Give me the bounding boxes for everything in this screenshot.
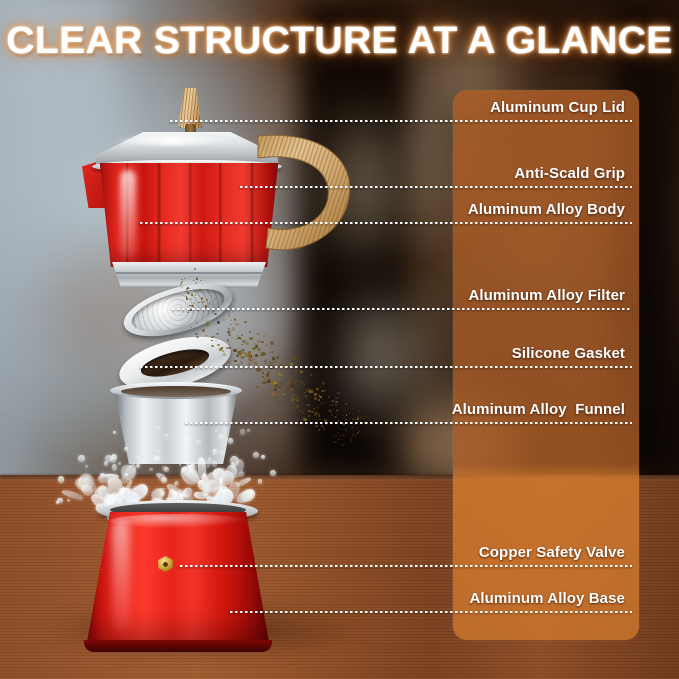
callout-label: Aluminum Alloy Filter <box>468 287 625 304</box>
lid-highlight <box>112 136 232 145</box>
callout-leader-line <box>185 422 632 424</box>
valve-center-hole <box>163 562 168 567</box>
callout-leader-line <box>140 366 632 368</box>
callout-label: Aluminum Alloy Body <box>468 201 625 218</box>
product-illustration <box>0 0 460 679</box>
anti-scald-wood-handle <box>252 128 362 258</box>
wooden-knob <box>178 88 202 128</box>
base-gloss-highlight <box>112 520 130 632</box>
callout-leader-line <box>230 611 632 613</box>
callout-label: Aluminum Alloy Funnel <box>452 401 625 418</box>
base-foot <box>84 640 272 652</box>
infographic-canvas: CLEAR STRUCTURE AT A GLANCE <box>0 0 679 679</box>
callout-leader-line <box>140 222 632 224</box>
callout-leader-line <box>172 308 632 310</box>
callout-label: Silicone Gasket <box>512 345 625 362</box>
callout-label: Aluminum Cup Lid <box>490 99 625 116</box>
callout-leader-line <box>180 565 632 567</box>
base-top-highlight <box>110 514 246 528</box>
callout-label: Aluminum Alloy Base <box>469 590 625 607</box>
knob-wood-grain <box>178 88 202 128</box>
body-gloss-highlight <box>120 170 136 258</box>
callout-leader-line <box>170 120 632 122</box>
callout-label: Anti-Scald Grip <box>514 165 625 182</box>
callout-label: Copper Safety Valve <box>479 544 625 561</box>
callout-leader-line <box>240 186 632 188</box>
